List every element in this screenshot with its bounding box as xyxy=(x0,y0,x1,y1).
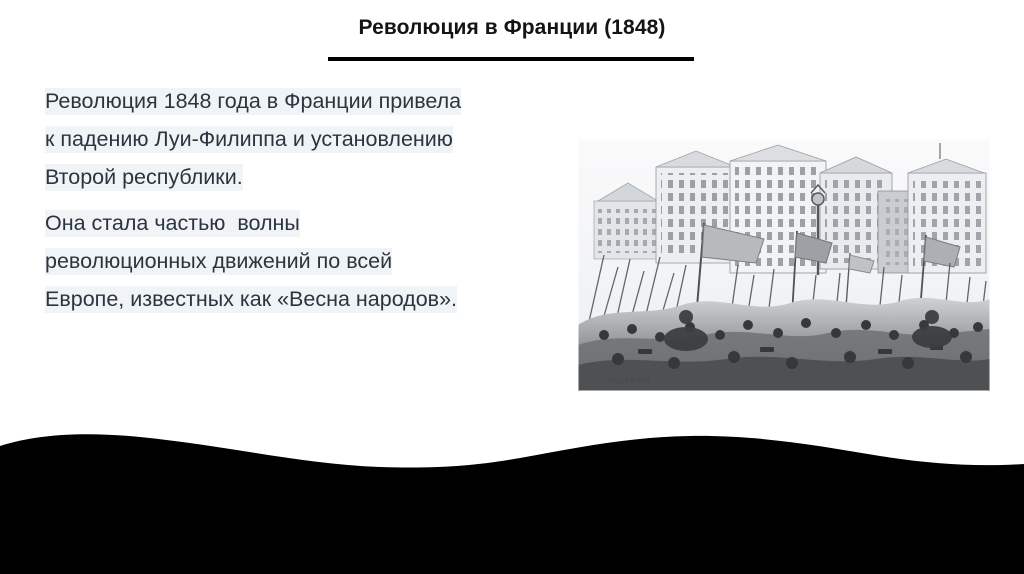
paragraph-1: Революция 1848 года в Франции привела к … xyxy=(45,82,573,196)
paragraph-1-line-1: Революция 1848 года в Франции привела xyxy=(45,82,573,120)
wave-shape-icon xyxy=(0,434,1024,574)
slide-canvas: Революция в Франции (1848) Революция 184… xyxy=(0,0,1024,574)
text-run: Второй республики. xyxy=(45,164,243,191)
paragraph-2: Она стала частью волны революционных дви… xyxy=(45,204,573,318)
title-underline-rule xyxy=(328,57,694,61)
text-run: революционных движений по всей xyxy=(45,248,392,275)
paragraph-2-line-3: Европе, известных как «Весна народов». xyxy=(45,280,573,318)
paragraph-2-line-2: революционных движений по всей xyxy=(45,242,573,280)
body-text-block: Революция 1848 года в Франции привела к … xyxy=(45,82,573,318)
text-run: Европе, известных как «Весна народов». xyxy=(45,286,457,313)
revolution-engraving-image: VALENTIN xyxy=(578,139,990,391)
engraving-signature-caption: VALENTIN xyxy=(608,378,651,385)
paragraph-1-line-2: к падению Луи-Филиппа и установлению xyxy=(45,120,573,158)
text-run: Революция 1848 года в Франции привела xyxy=(45,88,461,115)
bottom-wave-decoration xyxy=(0,434,1024,574)
engraving-graphic xyxy=(578,139,990,391)
page-title: Революция в Франции (1848) xyxy=(0,14,1024,42)
title-block: Революция в Франции (1848) xyxy=(0,14,1024,42)
paragraph-2-line-1: Она стала частью волны xyxy=(45,204,573,242)
text-run: к падению Луи-Филиппа и установлению xyxy=(45,126,453,153)
paragraph-1-line-3: Второй республики. xyxy=(45,158,573,196)
text-run: Она стала частью волны xyxy=(45,210,300,237)
